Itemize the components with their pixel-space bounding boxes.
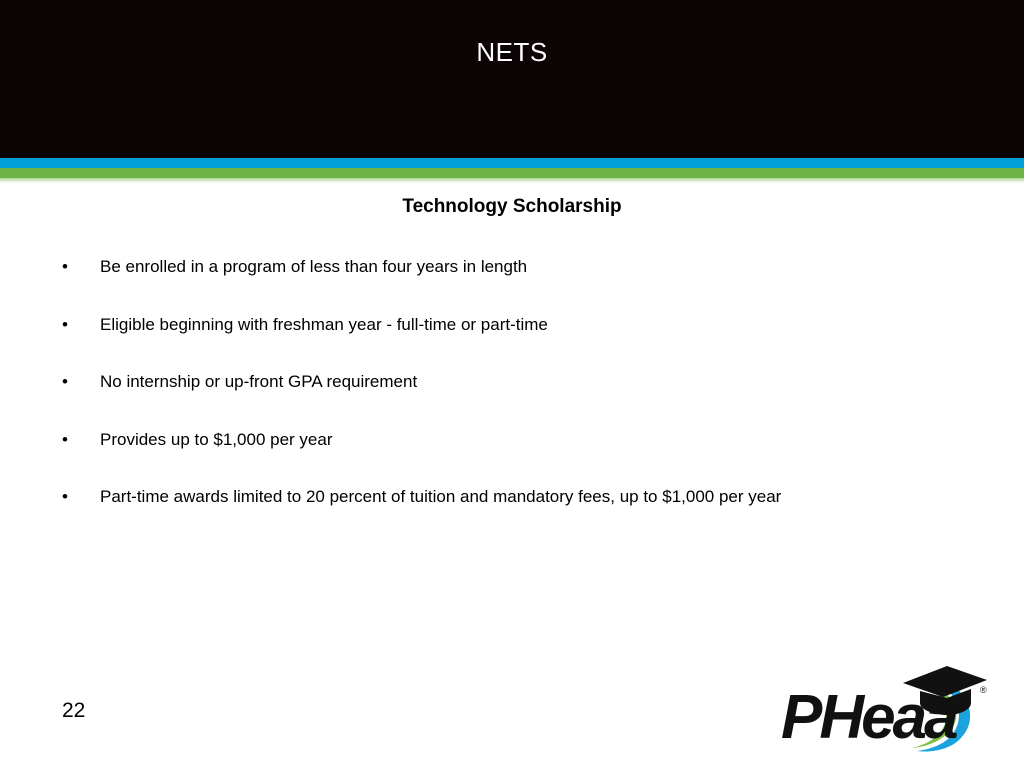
list-item: • Provides up to $1,000 per year bbox=[56, 429, 976, 451]
list-item: • No internship or up-front GPA requirem… bbox=[56, 371, 976, 393]
slide-header-band: NETS bbox=[0, 0, 1024, 158]
list-item-label: No internship or up-front GPA requiremen… bbox=[100, 371, 976, 393]
accent-rule-green-fade bbox=[0, 178, 1024, 183]
bullet-point-icon: • bbox=[56, 371, 100, 393]
bullet-point-icon: • bbox=[56, 429, 100, 451]
page-title: NETS bbox=[0, 36, 1024, 68]
list-item: • Eligible beginning with freshman year … bbox=[56, 314, 976, 336]
pheaa-logo: PHeaa ® bbox=[775, 660, 1000, 755]
list-item-label: Eligible beginning with freshman year - … bbox=[100, 314, 976, 336]
section-subtitle: Technology Scholarship bbox=[0, 195, 1024, 219]
slide: NETS Technology Scholarship • Be enrolle… bbox=[0, 0, 1024, 768]
list-item-label: Provides up to $1,000 per year bbox=[100, 429, 976, 451]
list-item-label: Part-time awards limited to 20 percent o… bbox=[100, 486, 976, 508]
bullet-point-icon: • bbox=[56, 486, 100, 508]
logo-trademark-symbol: ® bbox=[980, 685, 987, 695]
list-item: • Be enrolled in a program of less than … bbox=[56, 256, 976, 278]
accent-rule-green bbox=[0, 168, 1024, 178]
bullet-point-icon: • bbox=[56, 256, 100, 278]
accent-rule-blue bbox=[0, 158, 1024, 168]
list-item-label: Be enrolled in a program of less than fo… bbox=[100, 256, 976, 278]
bullet-point-icon: • bbox=[56, 314, 100, 336]
list-item: • Part-time awards limited to 20 percent… bbox=[56, 486, 976, 508]
logo-wordmark: PHeaa bbox=[781, 683, 957, 752]
pheaa-logo-graphic: PHeaa ® bbox=[775, 660, 1000, 755]
bullet-list: • Be enrolled in a program of less than … bbox=[56, 256, 976, 544]
page-number: 22 bbox=[62, 698, 85, 724]
